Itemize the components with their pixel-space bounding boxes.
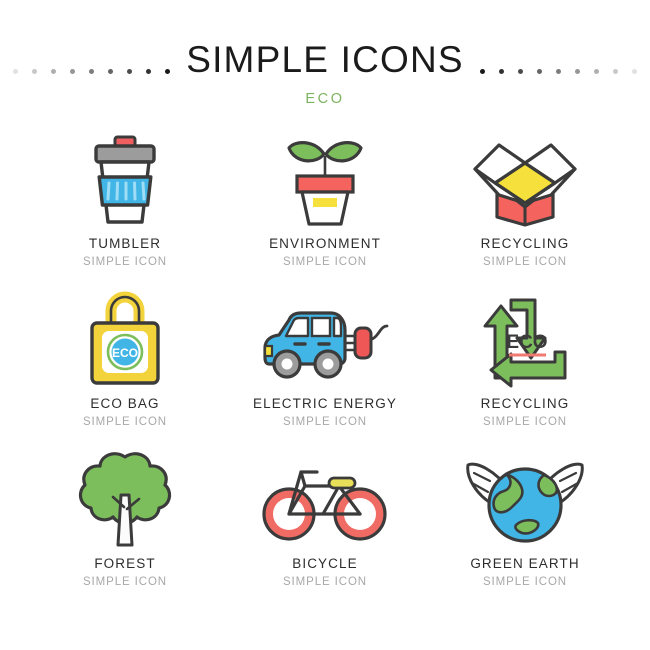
icon-cell-tumbler[interactable]: TUMBLER SIMPLE ICON xyxy=(25,128,225,288)
decorative-dot xyxy=(613,69,618,74)
icon-label: FOREST xyxy=(94,556,155,571)
icon-cell-recycling-box[interactable]: RECYCLING SIMPLE ICON xyxy=(425,128,625,288)
decorative-dot xyxy=(165,69,170,74)
icon-sublabel: SIMPLE ICON xyxy=(83,255,167,269)
icon-label: ENVIRONMENT xyxy=(269,236,381,251)
title-row: SIMPLE ICONS xyxy=(0,34,650,86)
icon-label: TUMBLER xyxy=(89,236,161,251)
decorative-dots-left xyxy=(13,34,170,86)
icon-sublabel: SIMPLE ICON xyxy=(283,415,367,429)
icon-cell-green-earth[interactable]: GREEN EARTH SIMPLE ICON xyxy=(425,448,625,608)
recycling-box-icon xyxy=(469,128,581,234)
decorative-dot xyxy=(632,69,637,74)
decorative-dot xyxy=(499,69,504,74)
environment-icon xyxy=(275,128,375,234)
icon-label: BICYCLE xyxy=(292,556,357,571)
icon-sublabel: SIMPLE ICON xyxy=(83,575,167,589)
decorative-dot xyxy=(480,69,485,74)
poster: SIMPLE ICONS ECO xyxy=(0,0,650,650)
icon-cell-environment[interactable]: ENVIRONMENT SIMPLE ICON xyxy=(225,128,425,288)
decorative-dot xyxy=(127,69,132,74)
decorative-dot xyxy=(575,69,580,74)
decorative-dot xyxy=(108,69,113,74)
icon-sublabel: SIMPLE ICON xyxy=(483,575,567,589)
eco-bag-badge-text: ECO xyxy=(112,346,138,360)
icon-sublabel: SIMPLE ICON xyxy=(283,575,367,589)
icon-cell-electric-energy[interactable]: ELECTRIC ENERGY SIMPLE ICON xyxy=(225,288,425,448)
icon-label: ELECTRIC ENERGY xyxy=(253,396,397,411)
decorative-dot xyxy=(13,69,18,74)
decorative-dot xyxy=(51,69,56,74)
icon-label: GREEN EARTH xyxy=(470,556,579,571)
decorative-dot xyxy=(70,69,75,74)
electric-energy-icon xyxy=(255,288,395,394)
decorative-dot xyxy=(89,69,94,74)
decorative-dot xyxy=(556,69,561,74)
icon-cell-recycling-arrows[interactable]: ECO RECYCLING SIMPLE ICON xyxy=(425,288,625,448)
eco-bag-icon: ECO xyxy=(81,288,169,394)
icon-cell-forest[interactable]: FOREST SIMPLE ICON xyxy=(25,448,225,608)
icon-grid: TUMBLER SIMPLE ICON ENVIRONMENT SIMPLE I… xyxy=(25,128,625,608)
icon-sublabel: SIMPLE ICON xyxy=(83,415,167,429)
icon-sublabel: SIMPLE ICON xyxy=(483,415,567,429)
forest-icon xyxy=(73,448,177,554)
recycling-badge-text: ECO xyxy=(506,332,547,353)
decorative-dot xyxy=(146,69,151,74)
icon-cell-eco-bag[interactable]: ECO ECO BAG SIMPLE ICON xyxy=(25,288,225,448)
bicycle-icon xyxy=(261,448,389,554)
page-title: SIMPLE ICONS xyxy=(186,37,464,83)
header: SIMPLE ICONS ECO xyxy=(0,34,650,107)
recycling-arrows-icon: ECO xyxy=(473,288,577,394)
decorative-dot xyxy=(518,69,523,74)
icon-sublabel: SIMPLE ICON xyxy=(483,255,567,269)
tumbler-icon xyxy=(82,128,168,234)
icon-cell-bicycle[interactable]: BICYCLE SIMPLE ICON xyxy=(225,448,425,608)
icon-sublabel: SIMPLE ICON xyxy=(283,255,367,269)
icon-label: RECYCLING xyxy=(481,396,570,411)
green-earth-icon xyxy=(460,448,590,554)
decorative-dot xyxy=(32,69,37,74)
decorative-dots-right xyxy=(480,34,637,86)
decorative-dot xyxy=(537,69,542,74)
decorative-dot xyxy=(594,69,599,74)
icon-label: RECYCLING xyxy=(481,236,570,251)
icon-label: ECO BAG xyxy=(90,396,159,411)
page-subtitle: ECO xyxy=(0,91,650,107)
